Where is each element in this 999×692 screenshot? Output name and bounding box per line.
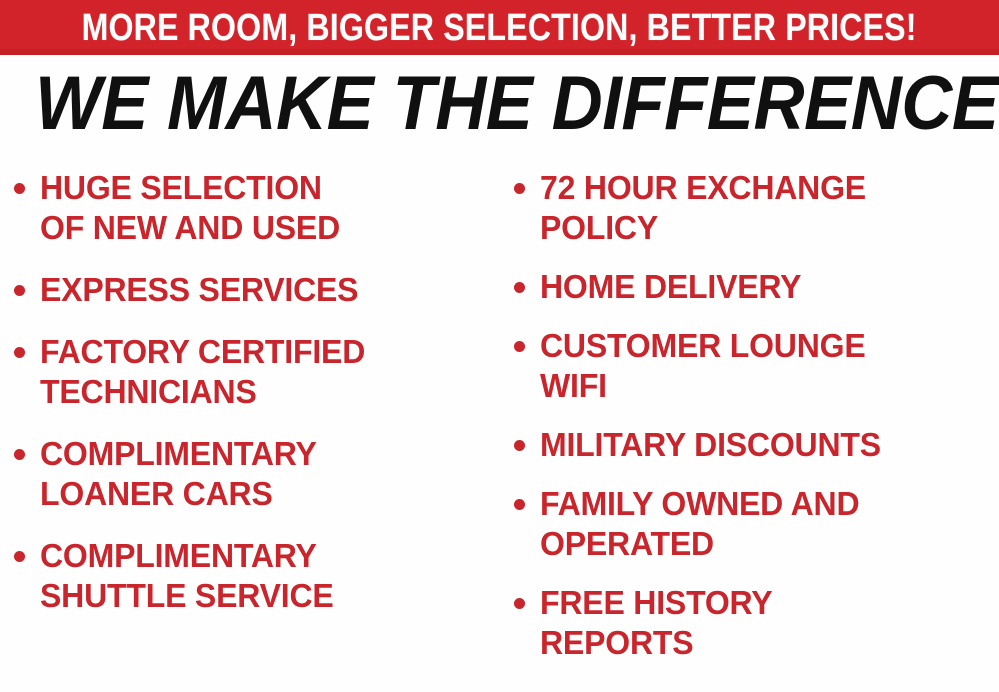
- list-item-label: COMPLIMENTARY SHUTTLE SERVICE: [40, 536, 490, 616]
- top-banner-text: MORE ROOM, BIGGER SELECTION, BETTER PRIC…: [82, 2, 917, 54]
- bullet-dot-icon: [14, 183, 25, 194]
- promo-poster: MORE ROOM, BIGGER SELECTION, BETTER PRIC…: [0, 0, 999, 692]
- list-item: MILITARY DISCOUNTS: [514, 425, 999, 465]
- list-item: FAMILY OWNED AND OPERATED: [514, 484, 999, 564]
- list-item: FREE HISTORY REPORTS: [514, 583, 999, 663]
- list-item-label: EXPRESS SERVICES: [40, 270, 490, 310]
- page-title: WE MAKE THE DIFFERENCE: [35, 62, 964, 146]
- list-item: 72 HOUR EXCHANGE POLICY: [514, 168, 999, 248]
- bullet-dot-icon: [514, 598, 525, 609]
- bullet-dot-icon: [14, 347, 25, 358]
- list-item-label: MILITARY DISCOUNTS: [540, 425, 985, 465]
- bullet-dot-icon: [514, 341, 525, 352]
- bullet-dot-icon: [514, 499, 525, 510]
- features-columns: HUGE SELECTION OF NEW AND USED EXPRESS S…: [0, 158, 999, 692]
- list-item-label: HUGE SELECTION OF NEW AND USED: [40, 168, 490, 248]
- bullet-dot-icon: [14, 551, 25, 562]
- list-item-label: FREE HISTORY REPORTS: [540, 583, 985, 663]
- list-item-label: HOME DELIVERY: [540, 267, 985, 307]
- list-item: COMPLIMENTARY LOANER CARS: [14, 434, 504, 514]
- list-item-label: 72 HOUR EXCHANGE POLICY: [540, 168, 985, 248]
- features-column-left: HUGE SELECTION OF NEW AND USED EXPRESS S…: [14, 158, 504, 692]
- list-item: HUGE SELECTION OF NEW AND USED: [14, 168, 504, 248]
- bullet-dot-icon: [14, 285, 25, 296]
- features-column-right: 72 HOUR EXCHANGE POLICY HOME DELIVERY CU…: [514, 158, 999, 692]
- list-item: FACTORY CERTIFIED TECHNICIANS: [14, 332, 504, 412]
- list-item-label: CUSTOMER LOUNGE WIFI: [540, 326, 985, 406]
- list-item: EXPRESS SERVICES: [14, 270, 504, 310]
- bullet-dot-icon: [514, 282, 525, 293]
- bullet-dot-icon: [14, 449, 25, 460]
- list-item-label: FACTORY CERTIFIED TECHNICIANS: [40, 332, 490, 412]
- bullet-dot-icon: [514, 183, 525, 194]
- list-item-label: COMPLIMENTARY LOANER CARS: [40, 434, 490, 514]
- top-banner: MORE ROOM, BIGGER SELECTION, BETTER PRIC…: [0, 0, 999, 55]
- list-item-label: FAMILY OWNED AND OPERATED: [540, 484, 985, 564]
- list-item: COMPLIMENTARY SHUTTLE SERVICE: [14, 536, 504, 616]
- list-item: HOME DELIVERY: [514, 267, 999, 307]
- list-item: CUSTOMER LOUNGE WIFI: [514, 326, 999, 406]
- bullet-dot-icon: [514, 440, 525, 451]
